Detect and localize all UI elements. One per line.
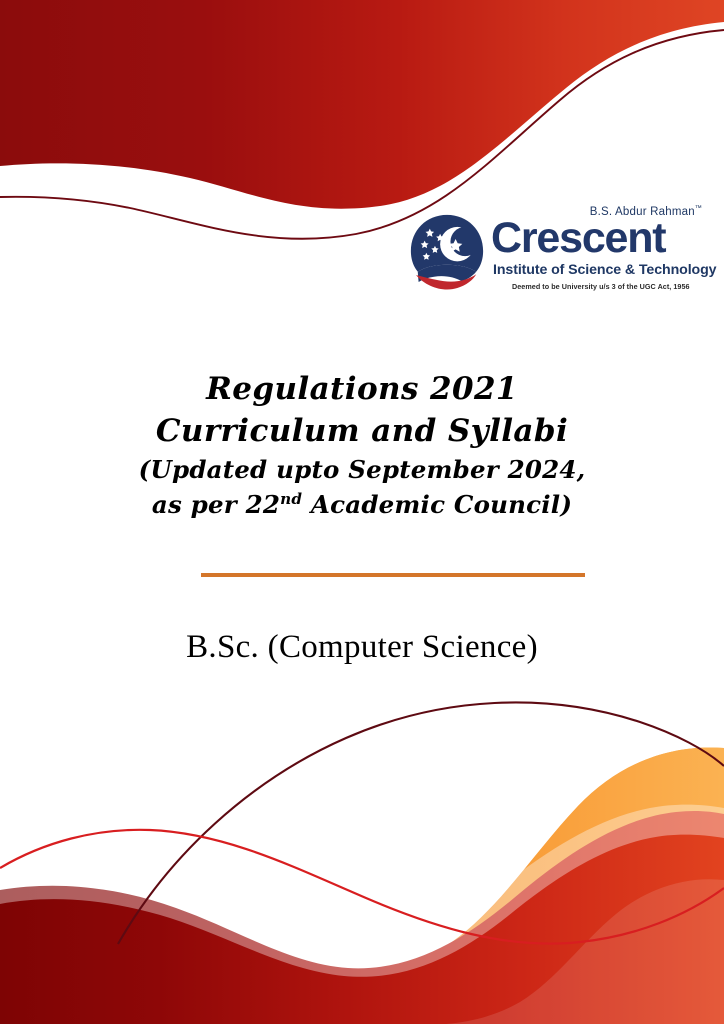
crescent-moon-and-stars-emblem-icon xyxy=(404,208,490,294)
title-line-4-suffix: Academic Council) xyxy=(302,490,572,519)
bottom-stroke-red xyxy=(0,830,724,944)
logo-wordmark-text: Crescent xyxy=(491,217,665,260)
top-wave-shape xyxy=(0,0,724,209)
title-line-4-superscript: nd xyxy=(280,490,302,508)
title-line-4: as per 22nd Academic Council) xyxy=(0,489,724,522)
orange-divider-rule xyxy=(201,573,585,577)
logo-subline-text: Institute of Science & Technology xyxy=(493,262,716,278)
title-line-1: Regulations 2021 xyxy=(0,368,724,410)
title-line-2: Curriculum and Syllabi xyxy=(0,410,724,452)
bottom-stroke-maroon xyxy=(118,702,724,944)
title-line-4-prefix: as per 22 xyxy=(152,490,280,519)
bottom-wave-inner-lobe xyxy=(446,879,724,1024)
logo-tagline-text: Deemed to be University u/s 3 of the UGC… xyxy=(512,282,690,291)
bottom-wave-orange-band xyxy=(300,747,724,1024)
title-line-3: (Updated upto September 2024, xyxy=(0,454,724,487)
title-block: Regulations 2021 Curriculum and Syllabi … xyxy=(0,368,724,522)
program-title: B.Sc. (Computer Science) xyxy=(0,629,724,666)
cover-page: B.S. Abdur Rahman™ Crescent Institute of… xyxy=(0,0,724,1024)
bottom-wave-orange-band-body xyxy=(300,747,724,1024)
institution-logo: B.S. Abdur Rahman™ Crescent Institute of… xyxy=(404,203,704,301)
trademark-symbol: ™ xyxy=(695,205,702,212)
bottom-wave-base xyxy=(0,811,724,1024)
bottom-wave-pink-overlay xyxy=(0,805,724,977)
bottom-wave-orange-mid xyxy=(316,817,724,1024)
logo-wordmark-group: B.S. Abdur Rahman™ Crescent Institute of… xyxy=(488,203,704,301)
